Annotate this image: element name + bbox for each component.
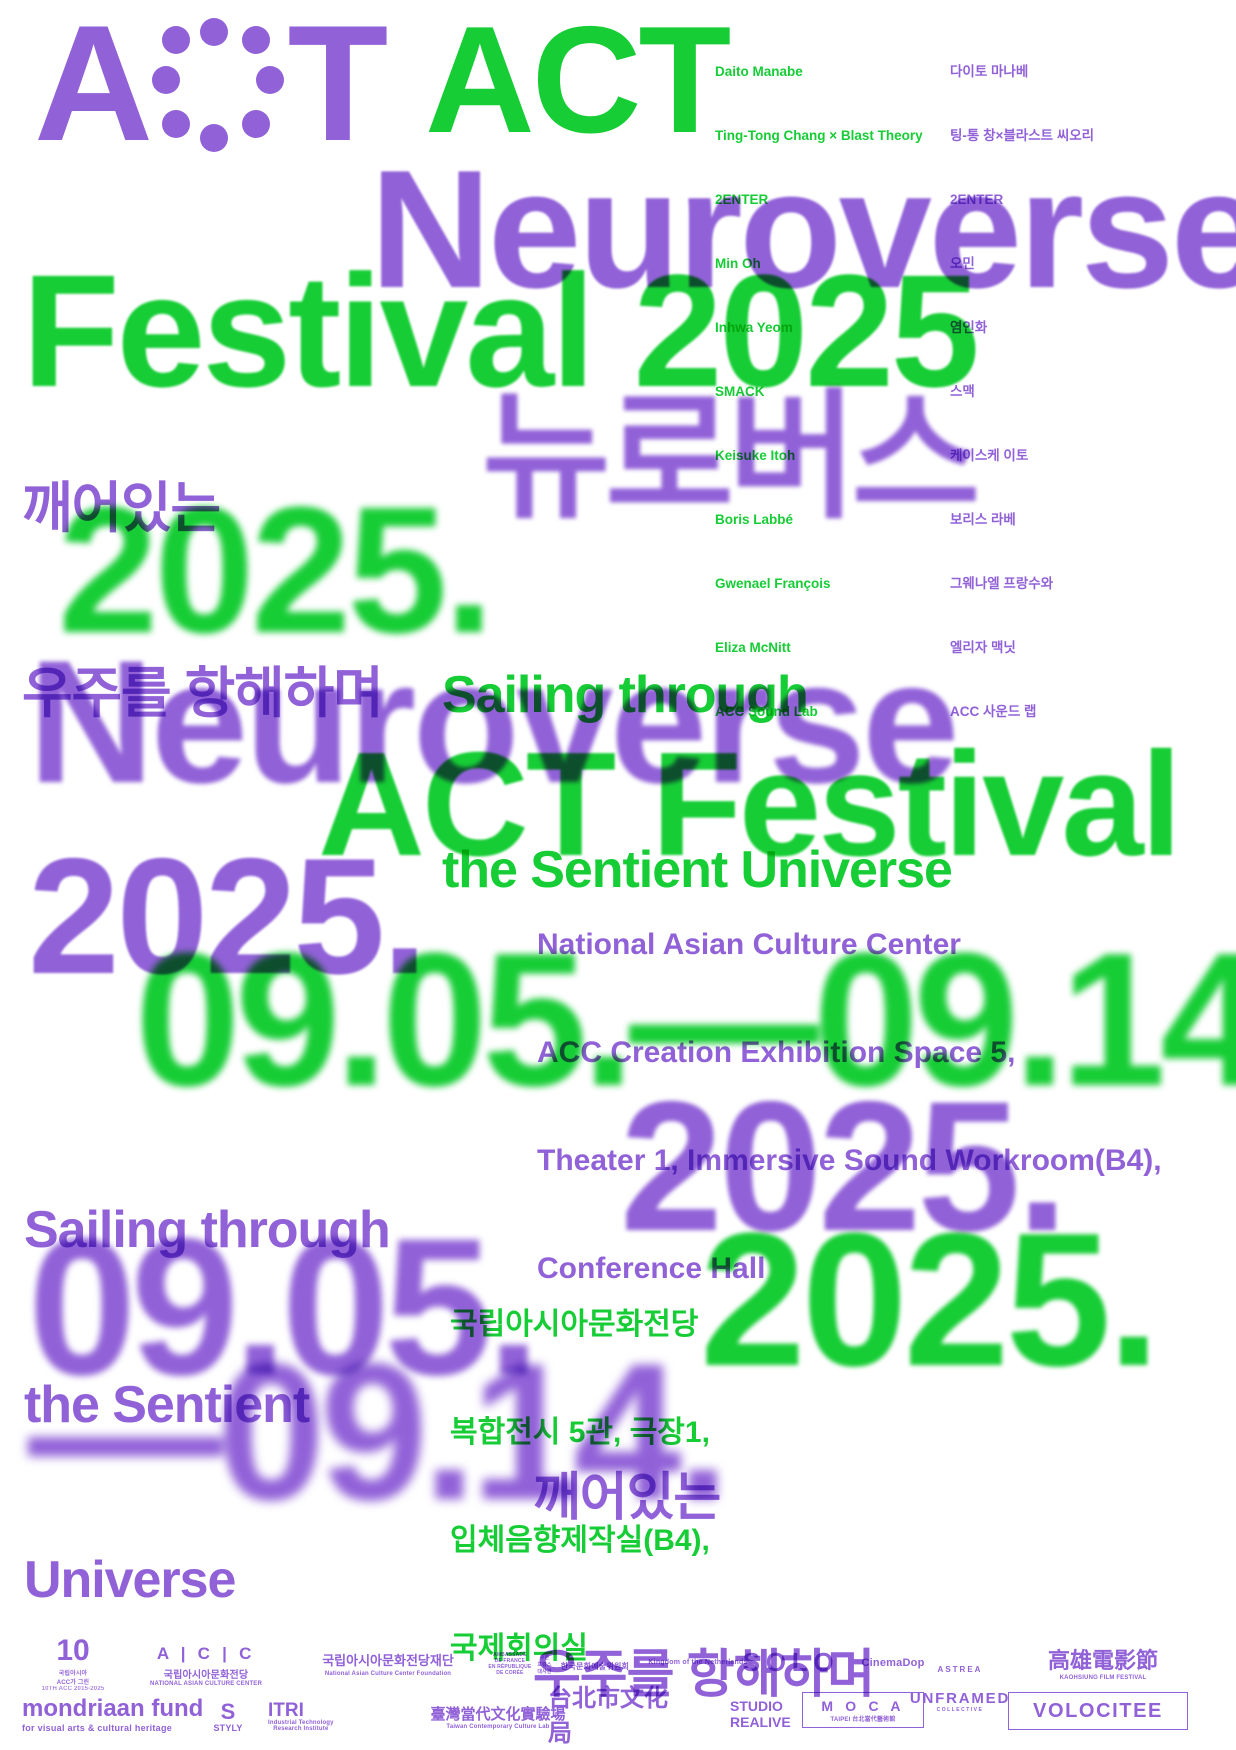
tagline-english-purple-line3: Universe (24, 1551, 390, 1609)
logo-sub: STYLY (213, 1723, 242, 1733)
logo-wordmark: VOLOCITEE (1033, 1700, 1163, 1723)
logo-sub: TAIPEI 台北當代藝術館 (830, 1714, 895, 1723)
artist-name-ko: 다이토 마나베 (950, 61, 1094, 82)
circle-of-dots-icon (158, 14, 282, 154)
logo-volocitee: VOLOCITEE (1008, 1692, 1188, 1730)
logo-wordmark: 高雄電影節 (1048, 1643, 1158, 1675)
logo-sub: KAOHSIUNG FILM FESTIVAL (1060, 1675, 1147, 1681)
logo-astrea-unframed: ASTREA UNFRAMED COLLECTIVE (900, 1640, 1020, 1738)
logo-wordmark: mondriaan fund (22, 1697, 203, 1721)
logo-sub: UNFRAMED (910, 1690, 1010, 1707)
logo-wordmark: ASTREA (938, 1665, 983, 1674)
logo-wordmark: SOLO (743, 1647, 840, 1678)
logo-wordmark: ITRI (268, 1701, 304, 1720)
logo-sub: for visual arts & cultural heritage (22, 1723, 172, 1733)
logo-foot: NATIONAL ASIAN CULTURE CENTER (150, 1681, 262, 1687)
logo-sub: Industrial Technology Research Institute (268, 1720, 334, 1732)
logo-styly: S STYLY (200, 1692, 256, 1742)
logo-mondriaan-fund: mondriaan fund for visual arts & cultura… (22, 1692, 222, 1738)
logo-accf-foundation: 국립아시아문화전당재단 National Asian Culture Cente… (278, 1638, 498, 1688)
artist-name-ko: 그웨나엘 프랑수와 (950, 573, 1094, 594)
logo-mark: S (221, 1701, 236, 1723)
artist-name-ko: ACC 사운드 랩 (950, 701, 1094, 722)
logo-foot: National Asian Culture Center Foundation (325, 1671, 451, 1677)
logo-itri: ITRI Industrial Technology Research Inst… (268, 1692, 388, 1740)
logo-kaohsiung-film-festival: 高雄電影節 KAOHSIUNG FILM FESTIVAL (1008, 1638, 1198, 1686)
logo-studio-realive: STUDIO REALIVE (686, 1690, 816, 1738)
artist-name-ko: 엘리자 맥닛 (950, 637, 1094, 658)
logo-sub: 국립아시아문화전당 (164, 1666, 249, 1681)
logo-sub: 국립아시아문화전당재단 (322, 1650, 454, 1669)
poster-canvas: A T Daito Manabe Ting-Tong Chang × Blast… (0, 0, 1236, 1750)
act-logo: A T (34, 14, 387, 154)
logo-taipei-department-cultural-affairs: 台北市文化局 (548, 1688, 688, 1738)
logo-solo: SOLO (736, 1642, 846, 1682)
logo-wordmark: AMBASSADE DE FRANCE EN RÉPUBLIQUE DE COR… (488, 1652, 531, 1676)
headline-neuroverse-korean: 뉴로버스 (482, 390, 975, 523)
artist-name: Daito Manabe (715, 61, 923, 82)
logo-sub: 국립아시아 ACC가 그린 (57, 1668, 90, 1686)
sponsor-logo-bar: 10 국립아시아 ACC가 그린 10TH ACC 2015-2025 mond… (0, 1630, 1236, 1750)
logo-wordmark: A | C | C (157, 1644, 255, 1664)
logo-sub: Taiwan Contemporary Culture Lab (446, 1724, 549, 1730)
logo-wordmark: 台北市文化局 (548, 1678, 688, 1748)
logo-sub: REALIVE (730, 1714, 791, 1730)
act-logo-letter-t: T (288, 16, 387, 151)
logo-foot: COLLECTIVE (937, 1707, 984, 1713)
logo-wordmark: M O C A (821, 1698, 904, 1714)
logo-wordmark: STUDIO (730, 1698, 783, 1714)
headline-act-green: ACT (425, 8, 728, 152)
logo-mark-10: 10 (56, 1636, 89, 1666)
logo-acc-national-asian-culture-center: A | C | C 국립아시아문화전당 NATIONAL ASIAN CULTU… (126, 1640, 286, 1690)
logo-wordmark: Kingdom of the Netherlands (648, 1659, 747, 1666)
logo-wordmark: 臺灣當代文化實驗場 (430, 1703, 565, 1724)
act-logo-letter-a: A (34, 16, 152, 151)
logo-acc-10th-anniversary: 10 국립아시아 ACC가 그린 10TH ACC 2015-2025 (28, 1636, 118, 1692)
tagline-korean-bottom-line1: 깨어있는 (533, 1469, 874, 1528)
